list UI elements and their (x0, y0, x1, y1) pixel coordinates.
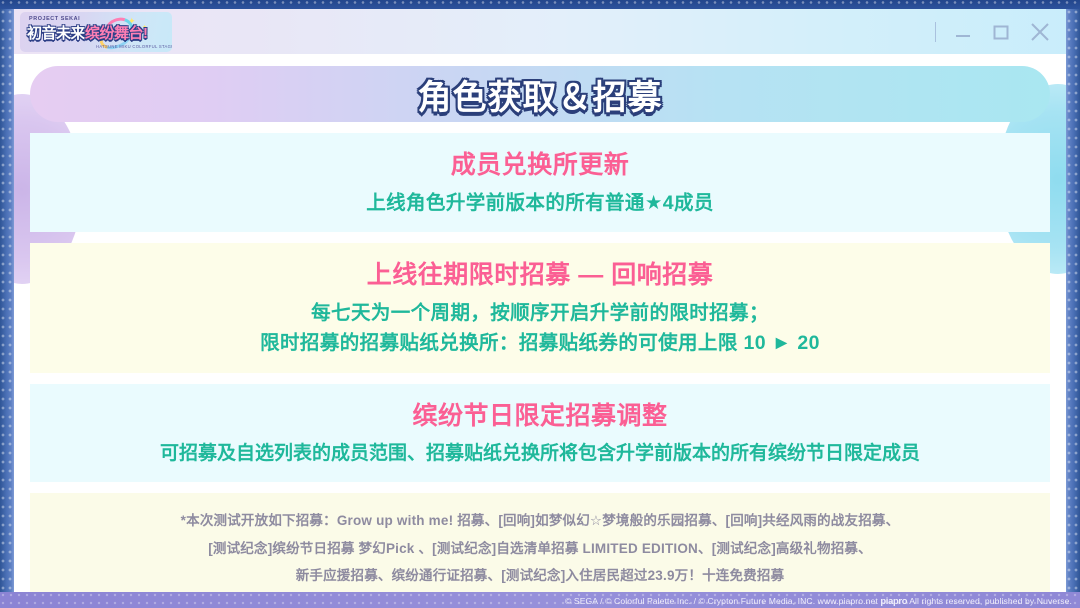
section-echo-gacha: 上线往期限时招募 — 回响招募 每七天为一个周期，按顺序开启升学前的限时招募； … (30, 243, 1050, 372)
minimize-icon[interactable] (952, 21, 974, 43)
left-edge-decoration (0, 0, 14, 608)
logo-main-text: 初音未来缤纷舞台! (27, 22, 148, 43)
sekai-logo-icon: ✦ ✦ ✦ PROJECT SEKAI 初音未来缤纷舞台! HATSUNE MI… (20, 12, 172, 52)
footnote-panel: *本次测试开放如下招募：Grow up with me! 招募、[回响]如梦似幻… (30, 493, 1050, 592)
section-line: 每七天为一个周期，按顺序开启升学前的限时招募； (40, 298, 1040, 328)
section-heading: 缤纷节日限定招募调整 (40, 396, 1040, 432)
section-colorfest-adjustment: 缤纷节日限定招募调整 可招募及自选列表的成员范围、招募贴纸兑换所将包含升学前版本… (30, 384, 1050, 482)
copyright-after: All rights reserved, published by Nuvers… (909, 596, 1072, 606)
page-content: 角色获取＆招募 成员兑换所更新 上线角色升学前版本的所有普通★4成员 上线往期限… (14, 54, 1066, 592)
application-window: ✦ ✦ ✦ PROJECT SEKAI 初音未来缤纷舞台! HATSUNE MI… (0, 0, 1080, 608)
maximize-icon[interactable] (990, 21, 1012, 43)
close-icon[interactable] (1028, 20, 1052, 44)
section-heading: 成员兑换所更新 (40, 145, 1040, 181)
copyright-before: © SEGA / © Colorful Palette Inc. / © Cry… (565, 596, 878, 606)
page-title-banner: 角色获取＆招募 (30, 66, 1050, 122)
section-heading: 上线往期限时招募 — 回响招募 (40, 255, 1040, 291)
footnote-line: *本次测试开放如下招募：Grow up with me! 招募、[回响]如梦似幻… (44, 507, 1036, 535)
piapro-logo-text: piapro (880, 595, 907, 606)
section-line: 限时招募的招募贴纸兑换所：招募贴纸券的可使用上限 10 ► 20 (40, 328, 1040, 358)
right-edge-decoration (1066, 0, 1080, 608)
page-title: 角色获取＆招募 (418, 70, 663, 119)
title-bar: ✦ ✦ ✦ PROJECT SEKAI 初音未来缤纷舞台! HATSUNE MI… (14, 9, 1066, 54)
footnote-line: [测试纪念]缤纷节日招募 梦幻Pick 、[测试纪念]自选清单招募 LIMITE… (44, 535, 1036, 563)
window-controls-divider (935, 22, 936, 42)
footer-bar: © SEGA / © Colorful Palette Inc. / © Cry… (0, 592, 1080, 608)
section-member-exchange: 成员兑换所更新 上线角色升学前版本的所有普通★4成员 (30, 133, 1050, 232)
window-controls (935, 20, 1052, 44)
footnote-line: 新手应援招募、缤纷通行证招募、[测试纪念]入住居民超过23.9万！十连免费招募 (44, 562, 1036, 590)
copyright-text: © SEGA / © Colorful Palette Inc. / © Cry… (565, 595, 1072, 606)
section-line: 可招募及自选列表的成员范围、招募贴纸兑换所将包含升学前版本的所有缤纷节日限定成员 (40, 439, 1040, 468)
section-line: 上线角色升学前版本的所有普通★4成员 (40, 188, 1040, 218)
logo-subtitle-text: HATSUNE MIKU COLORFUL STAGE (96, 44, 172, 49)
window-top-border (0, 0, 1080, 9)
